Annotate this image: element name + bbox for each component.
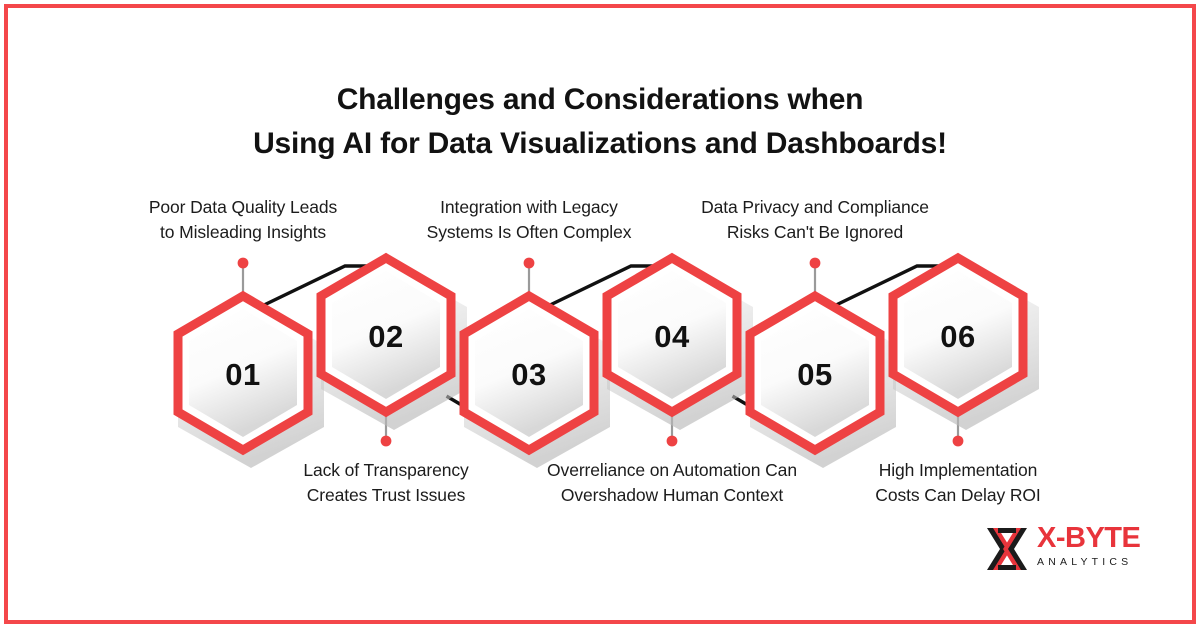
caption-03-line-1: Integration with Legacy xyxy=(389,195,669,220)
caption-05-line-1: Data Privacy and Compliance xyxy=(665,195,965,220)
dot-06 xyxy=(953,436,964,447)
caption-02-line-1: Lack of Transparency xyxy=(246,458,526,483)
infographic-poster: Challenges and Considerations when Using… xyxy=(0,0,1200,628)
caption-step-06: High Implementation Costs Can Delay ROI xyxy=(828,458,1088,508)
caption-step-04: Overreliance on Automation Can Overshado… xyxy=(512,458,832,508)
caption-step-02: Lack of Transparency Creates Trust Issue… xyxy=(246,458,526,508)
hexagon-number-01: 01 xyxy=(183,357,303,393)
logo-text-block: X-BYTE ANALYTICS xyxy=(1037,522,1147,569)
dot-03 xyxy=(524,258,535,269)
brand-logo[interactable]: X-BYTE ANALYTICS xyxy=(985,522,1145,582)
caption-04-line-2: Overshadow Human Context xyxy=(512,483,832,508)
hexagon-number-06: 06 xyxy=(898,319,1018,355)
dot-05 xyxy=(810,258,821,269)
dot-01 xyxy=(238,258,249,269)
caption-04-line-1: Overreliance on Automation Can xyxy=(512,458,832,483)
caption-06-line-2: Costs Can Delay ROI xyxy=(828,483,1088,508)
caption-01-line-2: to Misleading Insights xyxy=(103,220,383,245)
logo-subtitle: ANALYTICS xyxy=(1037,555,1147,569)
caption-05-line-2: Risks Can't Be Ignored xyxy=(665,220,965,245)
logo-wordmark: X-BYTE xyxy=(1037,522,1147,554)
hexagon-number-03: 03 xyxy=(469,357,589,393)
caption-01-line-1: Poor Data Quality Leads xyxy=(103,195,383,220)
caption-step-03: Integration with Legacy Systems Is Often… xyxy=(389,195,669,245)
caption-06-line-1: High Implementation xyxy=(828,458,1088,483)
hexagon-number-02: 02 xyxy=(326,319,446,355)
hexagon-number-05: 05 xyxy=(755,357,875,393)
hexagon-number-04: 04 xyxy=(612,319,732,355)
caption-02-line-2: Creates Trust Issues xyxy=(246,483,526,508)
caption-step-05: Data Privacy and Compliance Risks Can't … xyxy=(665,195,965,245)
dot-04 xyxy=(667,436,678,447)
caption-step-01: Poor Data Quality Leads to Misleading In… xyxy=(103,195,383,245)
x-byte-logo-mark-icon xyxy=(985,526,1029,572)
dot-02 xyxy=(381,436,392,447)
caption-03-line-2: Systems Is Often Complex xyxy=(389,220,669,245)
